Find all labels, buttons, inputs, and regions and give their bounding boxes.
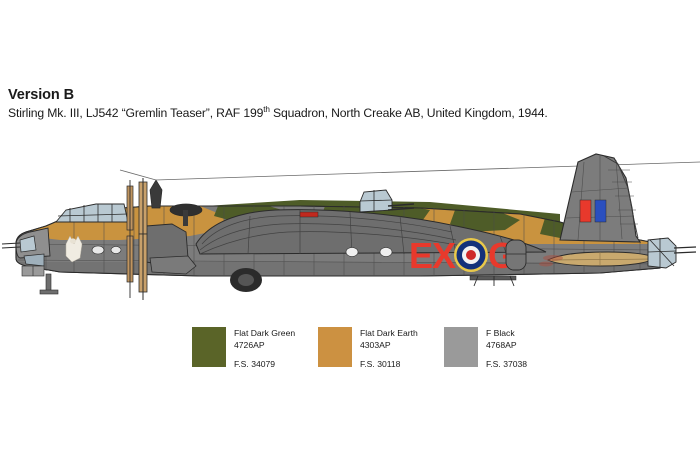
paint-fs-code: F.S. 37038: [486, 359, 527, 371]
paint-color-legend: Flat Dark Green 4726AP F.S. 34079 Flat D…: [192, 327, 622, 383]
paint-name: Flat Dark Green: [234, 328, 295, 340]
description-post: Squadron, North Creake AB, United Kingdo…: [270, 106, 548, 120]
color-swatch-flat-dark-green: [192, 327, 226, 367]
legend-text-block: F Black 4768AP F.S. 37038: [486, 327, 527, 371]
code-letters-left: EX: [409, 235, 456, 276]
nose-art-emblem: [66, 236, 82, 262]
color-swatch-f-black: [444, 327, 478, 367]
tail-turret: [648, 238, 696, 268]
aircraft-description: Stirling Mk. III, LJ542 “Gremlin Teaser”…: [8, 106, 698, 120]
legend-text-block: Flat Dark Earth 4303AP F.S. 30118: [360, 327, 418, 371]
page-title: Version B: [8, 88, 698, 104]
vertical-stabilizer: [560, 154, 640, 242]
version-header: Version B Stirling Mk. III, LJ542 “Greml…: [8, 88, 698, 120]
paint-code: 4768AP: [486, 340, 527, 352]
paint-code: 4303AP: [360, 340, 418, 352]
ventral-antenna-rack: [470, 276, 516, 286]
legend-item: Flat Dark Green 4726AP F.S. 34079: [192, 327, 318, 383]
legend-item: F Black 4768AP F.S. 37038: [444, 327, 570, 383]
legend-text-block: Flat Dark Green 4726AP F.S. 34079: [234, 327, 295, 371]
fuselage-code-left: EX: [409, 235, 456, 276]
paint-code: 4726AP: [234, 340, 295, 352]
legend-item: Flat Dark Earth 4303AP F.S. 30118: [318, 327, 444, 383]
paint-fs-code: F.S. 34079: [234, 359, 295, 371]
rear-access-hatch: [506, 240, 526, 270]
color-swatch-flat-dark-earth: [318, 327, 352, 367]
description-pre: Stirling Mk. III, LJ542 “Gremlin Teaser”…: [8, 106, 263, 120]
paint-name: Flat Dark Earth: [360, 328, 418, 340]
paint-fs-code: F.S. 30118: [360, 359, 418, 371]
cockpit-canopy: [56, 204, 128, 222]
fuselage-roundel: [454, 238, 488, 272]
aircraft-profile-illustration: EX G: [0, 140, 700, 315]
dorsal-turret: [360, 190, 414, 212]
tail-turret-guns: [674, 247, 696, 253]
paint-name: F Black: [486, 328, 527, 340]
